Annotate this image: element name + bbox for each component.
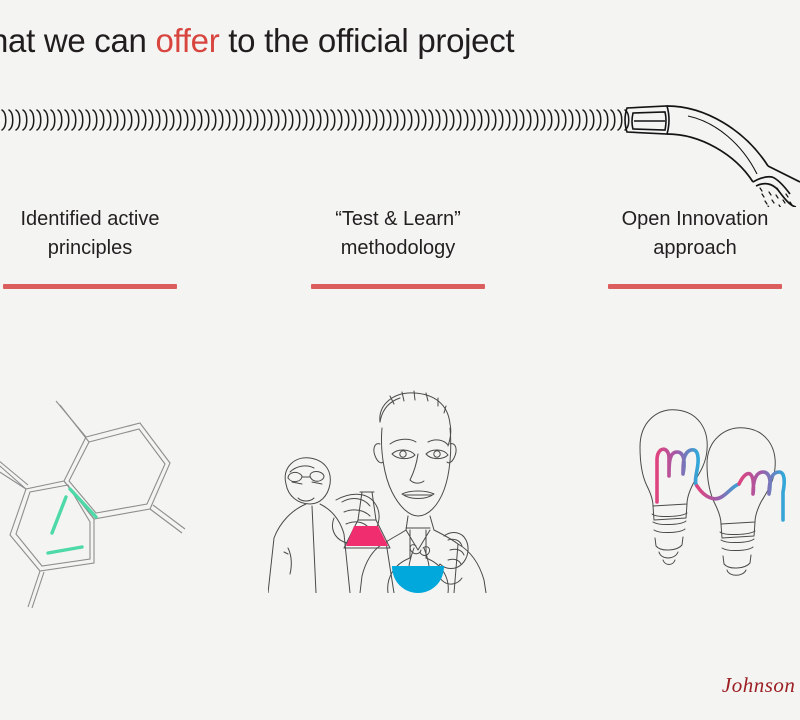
shower-decoration xyxy=(0,82,800,207)
column-heading: “Test & Learn” methodology xyxy=(268,205,528,263)
column-heading-line1: “Test & Learn” xyxy=(268,205,528,234)
johnson-and-johnson-logo: Johnson & xyxy=(722,673,800,698)
column-underline-bar xyxy=(311,284,485,289)
column-heading-line2: methodology xyxy=(268,234,528,263)
column-heading-line1: Open Innovation xyxy=(565,205,800,234)
column-heading: Open Innovation approach xyxy=(565,205,800,263)
column-heading: Identified active principles xyxy=(0,205,220,263)
title-accent-word: offer xyxy=(155,22,219,59)
column-heading-line1: Identified active xyxy=(0,205,220,234)
shower-hose-icon xyxy=(0,82,800,207)
page-title: hat we can offer to the official project xyxy=(0,22,750,60)
pink-flask-liquid xyxy=(346,526,388,546)
scientists-icon xyxy=(268,388,513,593)
scientists-with-flasks-illustration xyxy=(268,388,513,593)
column-underline-bar xyxy=(3,284,177,289)
slide-root: hat we can offer to the official project xyxy=(0,0,800,720)
column-open-innovation-approach: Open Innovation approach xyxy=(565,205,800,289)
title-text-after: to the official project xyxy=(219,22,514,59)
title-text-before: hat we can xyxy=(0,22,155,59)
connected-lightbulbs-illustration xyxy=(595,402,795,577)
column-test-and-learn-methodology: “Test & Learn” methodology xyxy=(268,205,528,289)
lightbulbs-icon xyxy=(595,402,795,577)
molecule-icon xyxy=(0,385,230,615)
molecule-illustration xyxy=(0,385,230,615)
column-identified-active-principles: Identified active principles xyxy=(0,205,220,289)
column-headings: Identified active principles “Test & Lea… xyxy=(0,205,800,315)
column-heading-line2: approach xyxy=(565,234,800,263)
column-heading-line2: principles xyxy=(0,234,220,263)
column-underline-bar xyxy=(608,284,782,289)
blue-flask-liquid xyxy=(392,566,444,593)
